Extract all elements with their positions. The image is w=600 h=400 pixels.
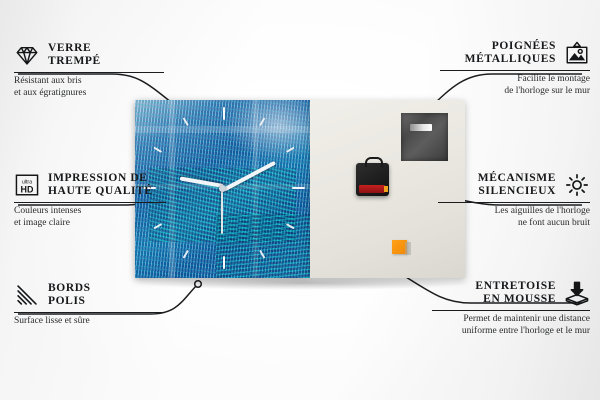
clock-tick: [153, 147, 162, 153]
metal-hanger-plate: [401, 113, 448, 161]
callout-rule: [438, 202, 590, 203]
polished-edge-icon: [14, 282, 40, 308]
clock-tick: [292, 187, 305, 189]
gear-icon: [564, 172, 590, 198]
quartz-movement: [356, 163, 389, 196]
svg-text:HD: HD: [21, 184, 34, 194]
callout-title: MÉCANISME SILENCIEUX: [478, 172, 556, 198]
callout-title: POIGNÉES MÉTALLIQUES: [465, 40, 556, 66]
callout-subtitle: Couleurs intenses et image claire: [14, 206, 166, 229]
callout-bords-polis[interactable]: BORDS POLIS Surface lisse et sûre: [14, 282, 164, 328]
callout-header: POIGNÉES MÉTALLIQUES: [440, 40, 590, 66]
picture-frame-hook-icon: [564, 40, 590, 66]
callout-subtitle: Surface lisse et sûre: [14, 316, 164, 328]
battery: [359, 185, 385, 193]
face-band: [135, 126, 310, 133]
callout-subtitle: Facilite le montage de l'horloge sur le …: [440, 74, 590, 97]
infographic-canvas: VERRE TREMPÉ Résistant aux bris et aux é…: [0, 0, 600, 400]
callout-verre-trempe[interactable]: VERRE TREMPÉ Résistant aux bris et aux é…: [14, 42, 164, 99]
callout-header: MÉCANISME SILENCIEUX: [438, 172, 590, 198]
clock-tick: [182, 117, 188, 126]
clock-tick: [182, 250, 188, 259]
callout-poignees-metalliques[interactable]: POIGNÉES MÉTALLIQUES Facilite le montage…: [440, 40, 590, 97]
product-photo: [135, 100, 465, 280]
callout-mecanisme-silencieux[interactable]: MÉCANISME SILENCIEUX Les aiguilles de l'…: [438, 172, 590, 229]
callout-header: BORDS POLIS: [14, 282, 164, 308]
callout-rule: [14, 72, 164, 73]
clock-tick: [223, 256, 225, 269]
foam-spacer: [392, 240, 407, 254]
callout-subtitle: Résistant aux bris et aux égratignures: [14, 76, 164, 99]
clock-second-hand: [221, 188, 223, 234]
callout-header: VERRE TREMPÉ: [14, 42, 164, 68]
callout-rule: [14, 312, 164, 313]
callout-subtitle: Permet de maintenir une distance uniform…: [432, 314, 590, 337]
callout-title: BORDS POLIS: [48, 282, 91, 308]
face-wave-pattern: [216, 214, 311, 278]
ultra-hd-icon: ultra HD: [14, 172, 40, 198]
press-down-foam-icon: [564, 280, 590, 306]
diamond-icon: [14, 42, 40, 68]
callout-header: ENTRETOISE EN MOUSSE: [432, 280, 590, 306]
callout-title: VERRE TREMPÉ: [48, 42, 101, 68]
clock-center-cap: [219, 185, 226, 192]
hanger-loop: [365, 157, 383, 167]
callout-rule: [432, 310, 590, 311]
callout-subtitle: Les aiguilles de l'horloge ne font aucun…: [438, 206, 590, 229]
callout-rule: [14, 202, 166, 203]
callout-entretoise-en-mousse[interactable]: ENTRETOISE EN MOUSSE Permet de maintenir…: [432, 280, 590, 337]
clock-tick: [223, 107, 225, 120]
callout-title: ENTRETOISE EN MOUSSE: [475, 280, 556, 306]
callout-impression-haute-qualite[interactable]: ultra HD IMPRESSION DE HAUTE QUALITÉ Cou…: [14, 172, 166, 229]
callout-title: IMPRESSION DE HAUTE QUALITÉ: [48, 172, 153, 198]
callout-rule: [440, 70, 590, 71]
callout-header: ultra HD IMPRESSION DE HAUTE QUALITÉ: [14, 172, 166, 198]
